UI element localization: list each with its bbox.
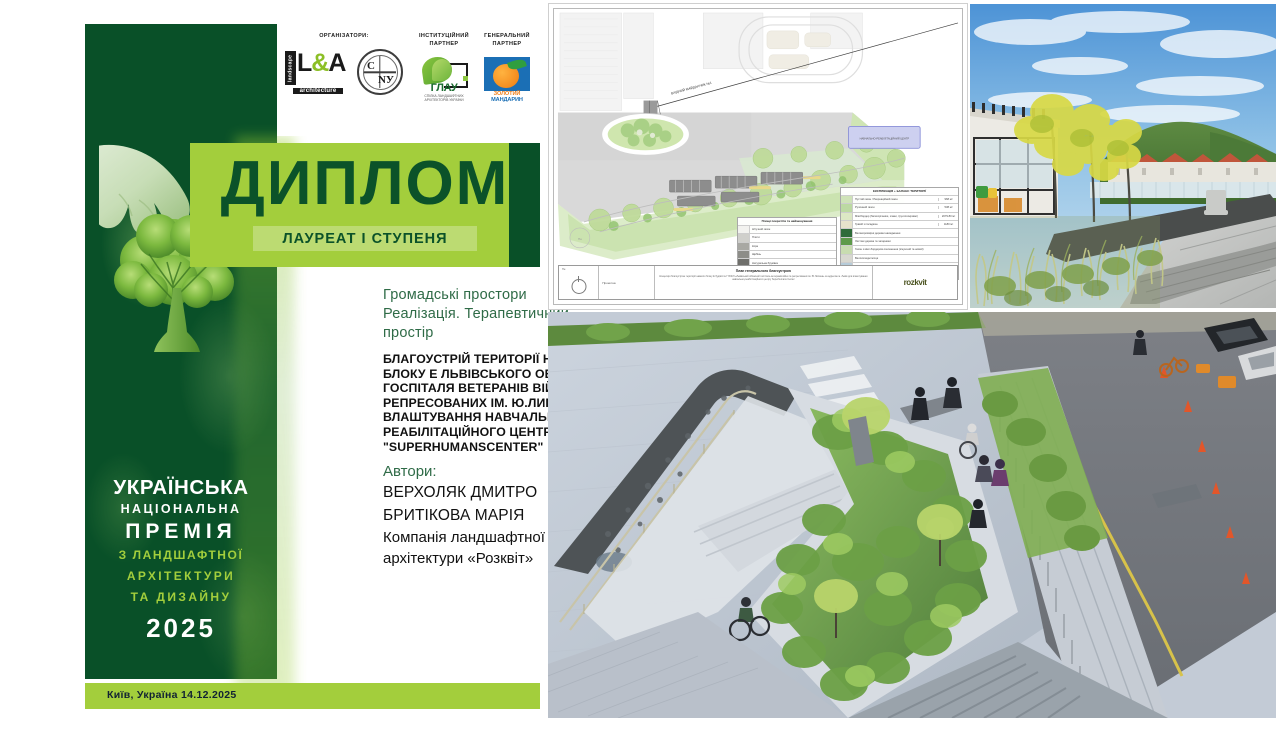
legend-swatch (841, 255, 853, 262)
plan-company-logo: rozkvit (873, 266, 957, 299)
legend-row: Велосипедні місця (841, 254, 958, 262)
legend-value: 1180 м² (938, 223, 958, 226)
legend-row: Рулонний газон538 м² (841, 203, 958, 211)
legend-label: Щебінь (750, 253, 836, 256)
la-letter-l: L (297, 49, 311, 77)
award-wordmark: УКРАЇНСЬКА НАЦІОНАЛЬНА ПРЕМІЯ З ЛАНДШАФТ… (85, 476, 277, 646)
stage-cell: Проектна (599, 266, 654, 299)
sanu-seal-logo: C NУ (357, 49, 403, 95)
award-line-4: З ЛАНДШАФТНОЇ (85, 545, 277, 566)
legend-row: Листяні дерева та чагарники (841, 237, 958, 245)
diploma-footer-bar: Київ, Україна 14.12.2025 (85, 683, 540, 709)
legend-label: Газон з мікс-бордером озеленення (існуюч… (853, 248, 938, 251)
legend-label: Рулонний газон (853, 206, 938, 209)
site-plan-drawing: ВХІДНИЙ МАЙДАНЧИК №1 (548, 3, 968, 310)
zolotiy-mandarin-logo: ЗОЛОТИЙ МАНДАРИН (484, 57, 530, 103)
award-line-6: ТА ДИЗАЙНУ (85, 587, 277, 608)
presentation-slide: ОРГАНІЗАТОРИ: landscape L&A architecture… (0, 0, 1280, 720)
terrace-photo-graphic (970, 4, 1276, 308)
diploma-degree-label: ЛАУРЕАТ I СТУПЕНЯ (253, 226, 477, 251)
la-vertical-text: landscape (285, 51, 296, 85)
sheet-description: Концепція благоустрою території навколо … (658, 275, 869, 281)
institutional-partner-group: ІНСТИТУЦІЙНИЙ ПАРТНЕР ГЛАУ СПІЛКА ЛАНДША… (411, 32, 477, 103)
legend-swatch (738, 234, 750, 241)
glau-accent-dot (463, 76, 468, 81)
aerial-photo-graphic (548, 312, 1276, 718)
legend-swatch (738, 251, 750, 258)
la-architecture-text: architecture (293, 88, 343, 94)
institutional-caption-line1: ІНСТИТУЦІЙНИЙ (411, 32, 477, 40)
la-letter-a: A (328, 49, 345, 77)
legend-swatch (841, 246, 853, 253)
glau-leaf-inner-icon (432, 59, 452, 81)
partner-logos-bar: ОРГАНІЗАТОРИ: landscape L&A architecture… (277, 24, 540, 136)
compass-icon (571, 279, 586, 294)
legend-label: Плити (750, 236, 836, 239)
svg-text:Пн: Пн (578, 237, 582, 241)
general-caption-line1: ГЕНЕРАЛЬНИЙ (477, 32, 537, 40)
award-line-2: НАЦІОНАЛЬНА (85, 500, 277, 519)
legend-swatch (841, 213, 853, 220)
plan-title-block: Пн Проектна План генерального благоустро… (558, 265, 958, 300)
north-arrow-cell: Пн (559, 266, 599, 299)
legend-row: Гравій з посадкою1180 м² (841, 220, 958, 228)
general-caption-line2: ПАРТНЕР (477, 40, 537, 48)
photo-rooftop-terrace (970, 4, 1276, 308)
page-title: ДИПЛОМ (190, 151, 540, 217)
legend-row: Великорозмірні деревні насадження (841, 228, 958, 236)
legend-swatch (738, 226, 750, 233)
legend-label: Міксбордер (багаторічники, злаки, ґрунто… (853, 215, 938, 218)
award-line-5: АРХІТЕКТУРИ (85, 566, 277, 587)
legend-row: Кора (738, 242, 836, 250)
general-partner-group: ГЕНЕРАЛЬНИЙ ПАРТНЕР ЗОЛОТИЙ МАНДАРИН (477, 32, 537, 103)
seal-letter-ny: NУ (378, 74, 394, 86)
award-year: 2025 (85, 610, 277, 646)
legend-swatch (841, 221, 853, 228)
sheet-title: План генерального благоустрою (658, 269, 869, 273)
legend-label: Великорозмірні деревні насадження (853, 232, 938, 235)
legend-surfaces-title: Площі покриттів та найменування (738, 218, 836, 225)
glau-wordmark: ГЛАУ (418, 82, 470, 94)
legend-swatch (841, 229, 853, 236)
legend-row: Пустий газон / Рекреаційний газон968 м² (841, 195, 958, 203)
landscape-architecture-logo: landscape L&A architecture (285, 49, 343, 93)
legend-row: Міксбордер (багаторічники, злаки, ґрунто… (841, 212, 958, 220)
legend-swatch (738, 243, 750, 250)
legend-row: Щебінь (738, 250, 836, 258)
award-line-1: УКРАЇНСЬКА (85, 476, 277, 500)
legend-label: Гравій з посадкою (853, 223, 938, 226)
legend-label: Кора (750, 245, 836, 248)
legend-swatch (841, 196, 853, 203)
legend-swatch (841, 204, 853, 211)
glau-logo: ГЛАУ СПІЛКА ЛАНДШАФТНИХ АРХІТЕКТОРІВ УКР… (418, 57, 470, 103)
legend-row: Газон з мікс-бордером озеленення (існуюч… (841, 245, 958, 253)
north-label: Пн (562, 268, 595, 271)
diploma-banner-end-cap (509, 143, 540, 267)
la-ampersand: & (311, 49, 328, 77)
award-line-3: ПРЕМІЯ (85, 519, 277, 545)
legend-value: 2079.80 м² (938, 215, 958, 218)
diploma-place-and-date: Київ, Україна 14.12.2025 (107, 689, 237, 701)
legend-balance-title: ЕКСПЛІКАЦІЯ + БАЛАНС ТЕРИТОРІЇ (841, 188, 958, 195)
diploma-title-banner: ДИПЛОМ ЛАУРЕАТ I СТУПЕНЯ (190, 143, 540, 267)
legend-row: Штучний газон (738, 225, 836, 233)
legend-row: Плити (738, 233, 836, 241)
seal-letter-c: C (367, 60, 375, 72)
organizers-group: ОРГАНІЗАТОРИ: landscape L&A architecture… (283, 32, 405, 95)
legend-label: Штучний газон (750, 228, 836, 231)
photo-aerial-courtyard (548, 312, 1276, 718)
legend-value: 538 м² (938, 206, 958, 209)
legend-value: 968 м² (938, 198, 958, 201)
legend-label: Велосипедні місця (853, 257, 938, 260)
organizers-caption: ОРГАНІЗАТОРИ: (283, 32, 405, 40)
glau-subtitle: СПІЛКА ЛАНДШАФТНИХ АРХІТЕКТОРІВ УКРАЇНИ (418, 94, 470, 103)
institutional-caption-line2: ПАРТНЕР (411, 40, 477, 48)
la-monogram: L&A (297, 51, 345, 75)
svg-text:НАВЧАЛЬНО-РЕАБІЛІТАЦІЙНИЙ ЦЕНТ: НАВЧАЛЬНО-РЕАБІЛІТАЦІЙНИЙ ЦЕНТР (860, 136, 910, 140)
legend-label: Листяні дерева та чагарники (853, 240, 938, 243)
legend-label: Пустий газон / Рекреаційний газон (853, 198, 938, 201)
mandarin-wordmark-line2: МАНДАРИН (484, 97, 530, 103)
legend-swatch (841, 238, 853, 245)
site-plan-sheet: ВХІДНИЙ МАЙДАНЧИК №1 (553, 8, 963, 305)
diploma-certificate: ОРГАНІЗАТОРИ: landscape L&A architecture… (85, 24, 540, 714)
sheet-name-cell: План генерального благоустрою Концепція … (655, 266, 873, 299)
